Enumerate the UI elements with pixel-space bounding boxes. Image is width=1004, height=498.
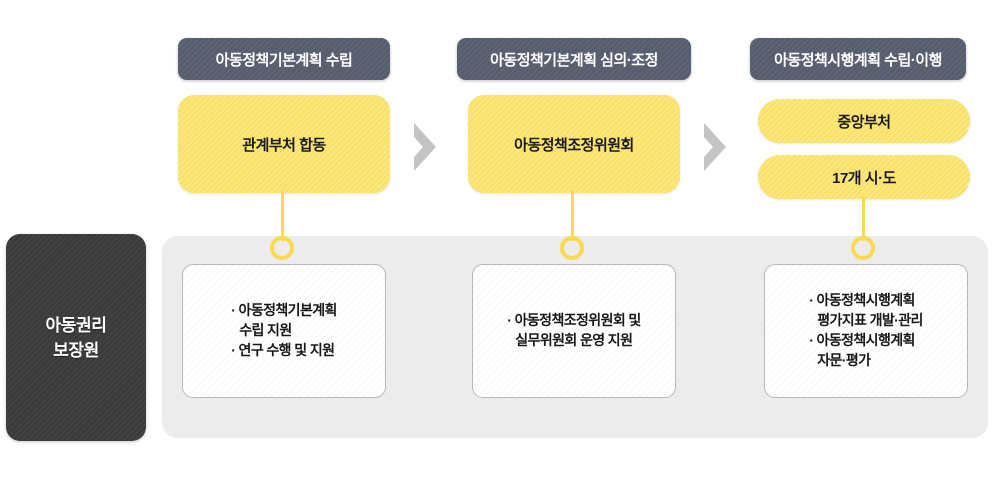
connector-ring-icon-2 [560, 236, 584, 260]
support-card-1-line-1: · 아동정책기본계획 [231, 301, 337, 321]
agency-label: 아동권리 보장원 [6, 312, 146, 362]
agency-panel: 아동권리 보장원 [6, 234, 146, 441]
support-card-3: · 아동정책시행계획 평가지표 개발·관리 · 아동정책시행계획 자문·평가 [764, 264, 968, 398]
flow-arrow-1-icon [410, 121, 440, 173]
support-card-2-line-1: · 아동정책조정위원회 및 [507, 311, 640, 331]
stage-header-3: 아동정책시행계획 수립·이행 [750, 38, 966, 80]
actor-box-3-1[interactable]: 중앙부처 [758, 99, 970, 143]
support-card-1-lines: · 아동정책기본계획 수립 지원 · 연구 수행 및 지원 [221, 301, 347, 361]
support-card-3-line-2: 평가지표 개발·관리 [809, 311, 923, 331]
support-card-2-line-2: 실무위원회 운영 지원 [507, 331, 640, 351]
support-card-1-line-2: 수립 지원 [231, 321, 337, 341]
actor-label-1-1: 관계부처 합동 [242, 134, 325, 155]
support-card-1: · 아동정책기본계획 수립 지원 · 연구 수행 및 지원 [182, 264, 386, 398]
flow-arrow-2-icon [700, 121, 730, 173]
connector-ring-icon-1 [270, 236, 294, 260]
support-card-2: · 아동정책조정위원회 및 실무위원회 운영 지원 [472, 264, 676, 398]
connector-line-1 [281, 191, 284, 241]
support-card-2-lines: · 아동정책조정위원회 및 실무위원회 운영 지원 [497, 311, 650, 351]
stage-header-2: 아동정책기본계획 심의·조정 [457, 38, 691, 80]
actor-box-2-1[interactable]: 아동정책조정위원회 [468, 95, 680, 193]
actor-label-2-1: 아동정책조정위원회 [514, 134, 634, 155]
stage-header-1-label: 아동정책기본계획 수립 [216, 49, 353, 70]
support-card-3-line-1: · 아동정책시행계획 [809, 291, 923, 311]
stage-header-2-label: 아동정책기본계획 심의·조정 [490, 49, 658, 70]
connector-line-2 [571, 191, 574, 241]
connector-ring-icon-3 [851, 236, 875, 260]
actor-box-1-1[interactable]: 관계부처 합동 [178, 95, 390, 193]
support-card-3-line-4: 자문·평가 [809, 351, 923, 371]
actor-label-3-1: 중앙부처 [837, 111, 890, 132]
stage-header-3-label: 아동정책시행계획 수립·이행 [774, 49, 942, 70]
stage-header-1: 아동정책기본계획 수립 [178, 38, 390, 80]
support-card-3-lines: · 아동정책시행계획 평가지표 개발·관리 · 아동정책시행계획 자문·평가 [799, 291, 933, 371]
actor-label-3-2: 17개 시·도 [832, 167, 896, 188]
support-card-1-line-3: · 연구 수행 및 지원 [231, 341, 337, 361]
actor-box-3-2[interactable]: 17개 시·도 [758, 155, 970, 199]
diagram-canvas: 아동권리 보장원 아동정책기본계획 수립 관계부처 합동 · 아동정책기본계획 … [0, 0, 1004, 498]
support-card-3-line-3: · 아동정책시행계획 [809, 331, 923, 351]
agency-label-line1: 아동권리 [6, 312, 146, 337]
connector-line-3 [862, 197, 865, 241]
agency-label-line2: 보장원 [6, 338, 146, 363]
